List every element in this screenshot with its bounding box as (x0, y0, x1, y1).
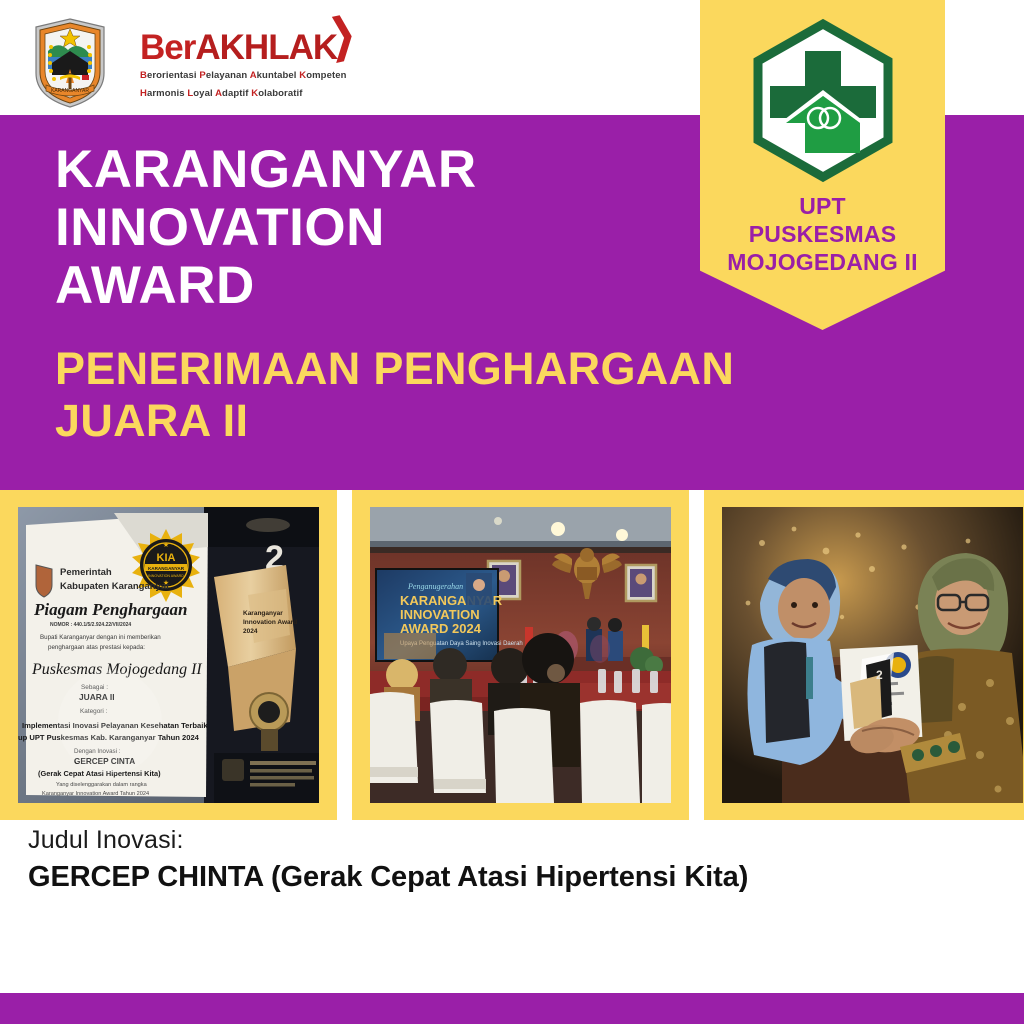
svg-text:Penganugerahan: Penganugerahan (407, 582, 463, 591)
berakhlak-wordmark: BerAKHLAK (140, 30, 337, 65)
svg-text:2024: 2024 (243, 628, 258, 635)
berakhlak-word-akhlak: AKHLAK (195, 28, 337, 67)
svg-text:Bupati Karanganyar dengan ini: Bupati Karanganyar dengan ini memberikan (40, 634, 161, 641)
ribbon-line-mojogedang: MOJOGEDANG II (700, 248, 945, 276)
ribbon-line-upt: UPT (700, 192, 945, 220)
svg-text:KARANGANYAR: KARANGANYAR (51, 88, 89, 94)
award-subtitle-line2: JUARA II (55, 395, 734, 447)
award-title-line3: AWARD (55, 257, 477, 315)
svg-text:KARANGANYAR: KARANGANYAR (148, 566, 185, 571)
bottom-accent-bar (0, 993, 1024, 1024)
svg-text:Karanganyar: Karanganyar (243, 610, 283, 617)
ribbon-label: UPT PUSKESMAS MOJOGEDANG II (700, 192, 945, 276)
photo-frame-handover: 2 (704, 490, 1024, 820)
chevron-right-icon: ❯ (328, 7, 358, 64)
svg-text:Yang diselenggarakan dalam ran: Yang diselenggarakan dalam rangka (56, 782, 148, 788)
award-ceremony-hall-photo: Penganugerahan KARANGANYAR INNOVATION AW… (370, 507, 671, 803)
innovation-caption: Judul Inovasi: GERCEP CHINTA (Gerak Cepa… (28, 826, 748, 894)
photo-frame-certificate: 2 Karanganyar Innovation Award 2024 (0, 490, 337, 820)
svg-text:Pemerintah: Pemerintah (60, 567, 112, 578)
svg-text:Kabupaten Karanganyar: Kabupaten Karanganyar (60, 581, 170, 592)
certificate-and-trophy-photo: 2 Karanganyar Innovation Award 2024 (18, 507, 319, 803)
puskesmas-health-hexagon-logo-icon (748, 18, 898, 183)
ribbon-line-puskesmas: PUSKESMAS (700, 220, 945, 248)
karanganyar-regency-crest-icon: KARANGANYAR (30, 17, 110, 109)
puskesmas-ribbon-banner: UPT PUSKESMAS MOJOGEDANG II (700, 0, 945, 330)
svg-text:★: ★ (163, 541, 169, 549)
berakhlak-logo: BerAKHLAK ❯ Berorientasi Pelayanan Akunt… (140, 30, 340, 101)
svg-text:NOMOR : 440.1/5/2.924.22/VII/2: NOMOR : 440.1/5/2.924.22/VII/2024 (50, 622, 131, 628)
award-subtitle: PENERIMAAN PENGHARGAAN JUARA II (55, 343, 734, 447)
berakhlak-tagline-line1: Berorientasi Pelayanan Akuntabel Kompete… (140, 70, 340, 83)
svg-text:Karanganyar Innovation Award T: Karanganyar Innovation Award Tahun 2024 (42, 791, 149, 797)
caption-title: GERCEP CHINTA (Gerak Cepat Atasi Hiperte… (28, 861, 748, 894)
caption-label: Judul Inovasi: (28, 826, 748, 855)
award-handover-photo: 2 (722, 507, 1023, 803)
award-title-line2: INNOVATION (55, 199, 477, 257)
photo-gallery: 2 Karanganyar Innovation Award 2024 (0, 490, 1024, 820)
svg-text:2: 2 (876, 668, 883, 682)
photo-frame-ceremony: Penganugerahan KARANGANYAR INNOVATION AW… (352, 490, 689, 820)
svg-text:Piagam Penghargaan: Piagam Penghargaan (33, 600, 188, 619)
footer-contact-bar: Call us for more info 08953 7791 7575 Vi… (0, 915, 1024, 993)
page-title: KARANGANYAR INNOVATION AWARD (55, 141, 477, 314)
svg-text:Innovation Award: Innovation Award (243, 619, 297, 626)
award-subtitle-line1: PENERIMAAN PENGHARGAAN (55, 343, 734, 395)
berakhlak-tagline-line2: Harmonis Loyal Adaptif Kolaboratif (140, 88, 340, 101)
svg-text:INNOVATION: INNOVATION (400, 607, 480, 622)
svg-text:penghargaan atas prestasi kepa: penghargaan atas prestasi kepada: (48, 644, 145, 651)
svg-text:INNOVATION AWARD: INNOVATION AWARD (148, 574, 184, 578)
berakhlak-word-ber: Ber (140, 28, 195, 67)
svg-text:KIA: KIA (157, 552, 176, 564)
award-title-line1: KARANGANYAR (55, 141, 477, 199)
